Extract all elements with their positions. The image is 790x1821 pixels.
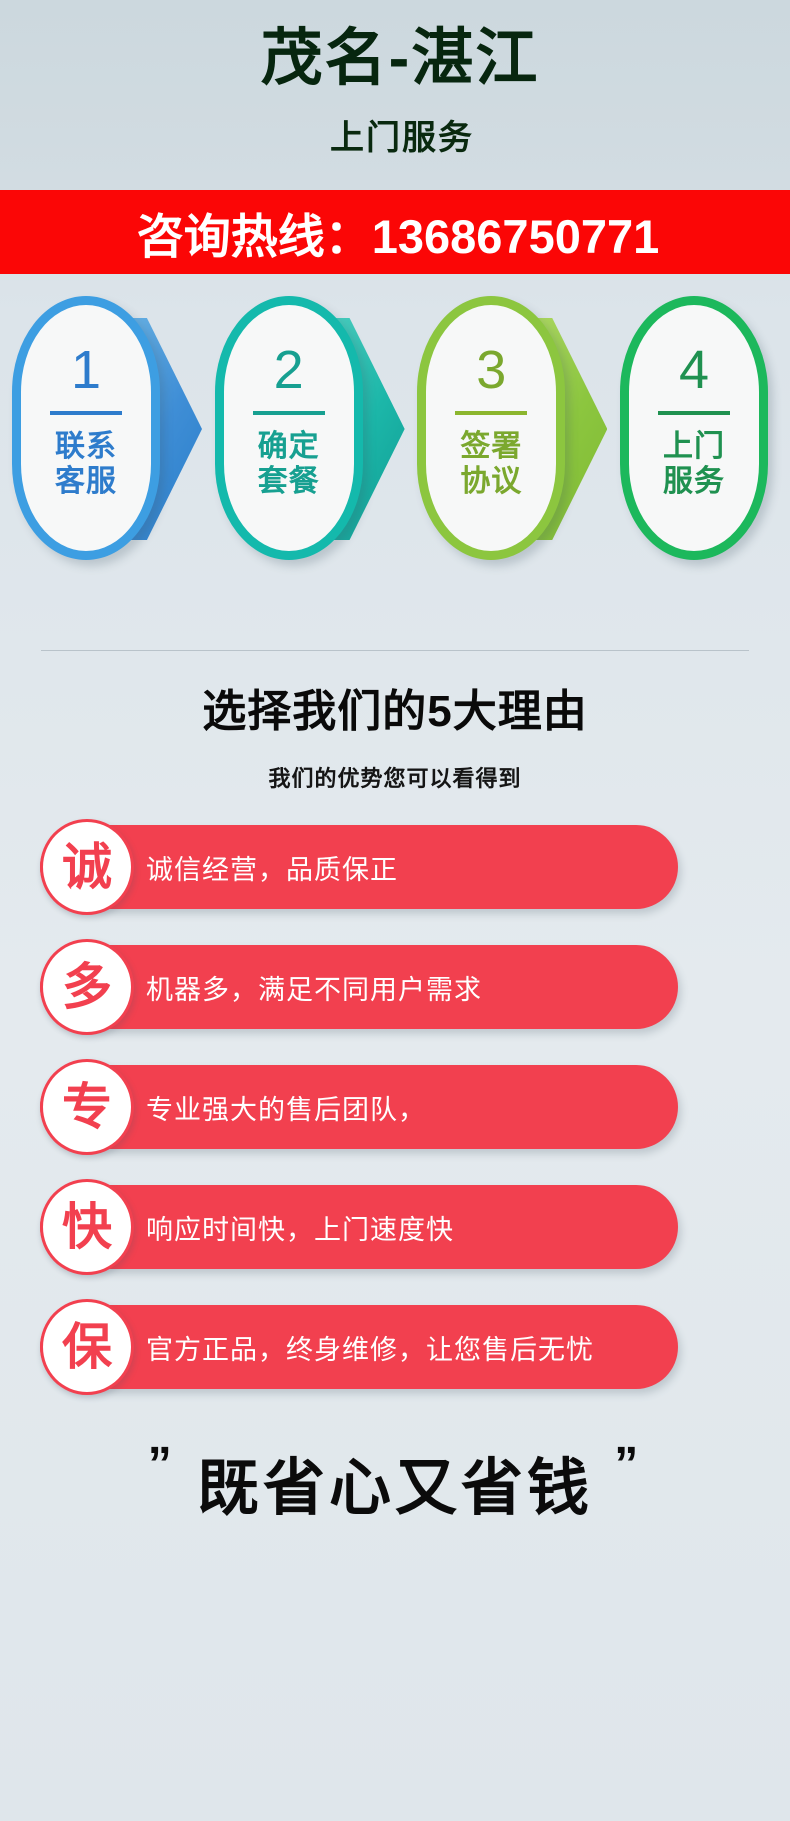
reasons-list: 诚信经营，品质保正 诚 机器多，满足不同用户需求 多 专业强大的售后团队， 专 … <box>0 819 790 1395</box>
step-number: 1 <box>71 343 101 397</box>
process-step-2: 2 确定 套餐 <box>215 296 373 560</box>
step-capsule: 4 上门 服务 <box>620 296 768 560</box>
reason-text: 机器多，满足不同用户需求 <box>146 968 482 1007</box>
close-quote-icon: ” <box>614 1438 642 1491</box>
slogan-text: 既省心又省钱 <box>197 1454 593 1523</box>
process-steps-section: 1 联系 客服 2 确定 套餐 3 <box>0 274 790 620</box>
step-divider <box>658 411 730 415</box>
step-capsule: 1 联系 客服 <box>12 296 160 560</box>
reason-pill: 诚信经营，品质保正 <box>40 825 678 909</box>
reason-badge-char: 保 <box>62 1322 112 1372</box>
reason-item: 机器多，满足不同用户需求 多 <box>22 939 768 1035</box>
step-label-line2: 套餐 <box>258 465 320 498</box>
step-capsule: 2 确定 套餐 <box>215 296 363 560</box>
step-label-line2: 客服 <box>55 465 117 498</box>
step-divider <box>253 411 325 415</box>
reason-badge-char: 快 <box>62 1202 112 1252</box>
step-label-line1: 联系 <box>55 430 117 463</box>
step-number: 4 <box>679 343 709 397</box>
hotline-banner: 咨询热线：13686750771 <box>0 190 790 274</box>
reason-text: 专业强大的售后团队， <box>146 1088 426 1127</box>
reason-item: 官方正品，终身维修，让您售后无忧 保 <box>22 1299 768 1395</box>
reason-pill: 官方正品，终身维修，让您售后无忧 <box>40 1305 678 1389</box>
reason-badge: 多 <box>40 939 134 1035</box>
reason-pill: 专业强大的售后团队， <box>40 1065 678 1149</box>
reason-pill: 机器多，满足不同用户需求 <box>40 945 678 1029</box>
reason-badge-char: 专 <box>62 1082 112 1132</box>
step-label-line1: 确定 <box>258 430 320 463</box>
step-capsule: 3 签署 协议 <box>417 296 565 560</box>
reason-item: 专业强大的售后团队， 专 <box>22 1059 768 1155</box>
reason-text: 诚信经营，品质保正 <box>146 848 398 887</box>
page-subtitle: 上门服务 <box>0 110 790 159</box>
process-steps-list: 1 联系 客服 2 确定 套餐 3 <box>0 296 790 560</box>
hotline-text: 咨询热线：13686750771 <box>131 198 660 267</box>
process-step-1: 1 联系 客服 <box>12 296 170 560</box>
reasons-subtitle: 我们的优势您可以看得到 <box>0 761 790 793</box>
reason-pill: 响应时间快，上门速度快 <box>40 1185 678 1269</box>
step-divider <box>455 411 527 415</box>
reason-badge: 快 <box>40 1179 134 1275</box>
step-number: 2 <box>274 343 304 397</box>
step-label: 联系 客服 <box>55 429 117 500</box>
process-step-4: 4 上门 服务 <box>620 296 778 560</box>
reason-item: 响应时间快，上门速度快 快 <box>22 1179 768 1275</box>
page-header: 茂名-湛江 上门服务 <box>0 0 790 190</box>
step-label-line2: 服务 <box>663 465 725 498</box>
reason-badge-char: 诚 <box>62 842 112 892</box>
process-step-3: 3 签署 协议 <box>417 296 575 560</box>
reason-badge: 诚 <box>40 819 134 915</box>
step-number: 3 <box>476 343 506 397</box>
step-divider <box>50 411 122 415</box>
step-label: 签署 协议 <box>460 429 522 500</box>
page-title: 茂名-湛江 <box>0 20 790 98</box>
reason-text: 响应时间快，上门速度快 <box>146 1208 454 1247</box>
footer-slogan: ” 既省心又省钱 ” <box>0 1437 790 1527</box>
open-quote-icon: ” <box>148 1438 176 1491</box>
step-label-line1: 上门 <box>663 430 725 463</box>
reason-badge: 保 <box>40 1299 134 1395</box>
step-label-line1: 签署 <box>460 430 522 463</box>
section-divider <box>41 650 749 651</box>
reason-badge-char: 多 <box>62 962 112 1012</box>
reason-item: 诚信经营，品质保正 诚 <box>22 819 768 915</box>
reasons-title: 选择我们的5大理由 <box>0 675 790 739</box>
reason-badge: 专 <box>40 1059 134 1155</box>
step-label: 上门 服务 <box>663 429 725 500</box>
step-label: 确定 套餐 <box>258 429 320 500</box>
reason-text: 官方正品，终身维修，让您售后无忧 <box>146 1328 594 1367</box>
step-label-line2: 协议 <box>460 465 522 498</box>
